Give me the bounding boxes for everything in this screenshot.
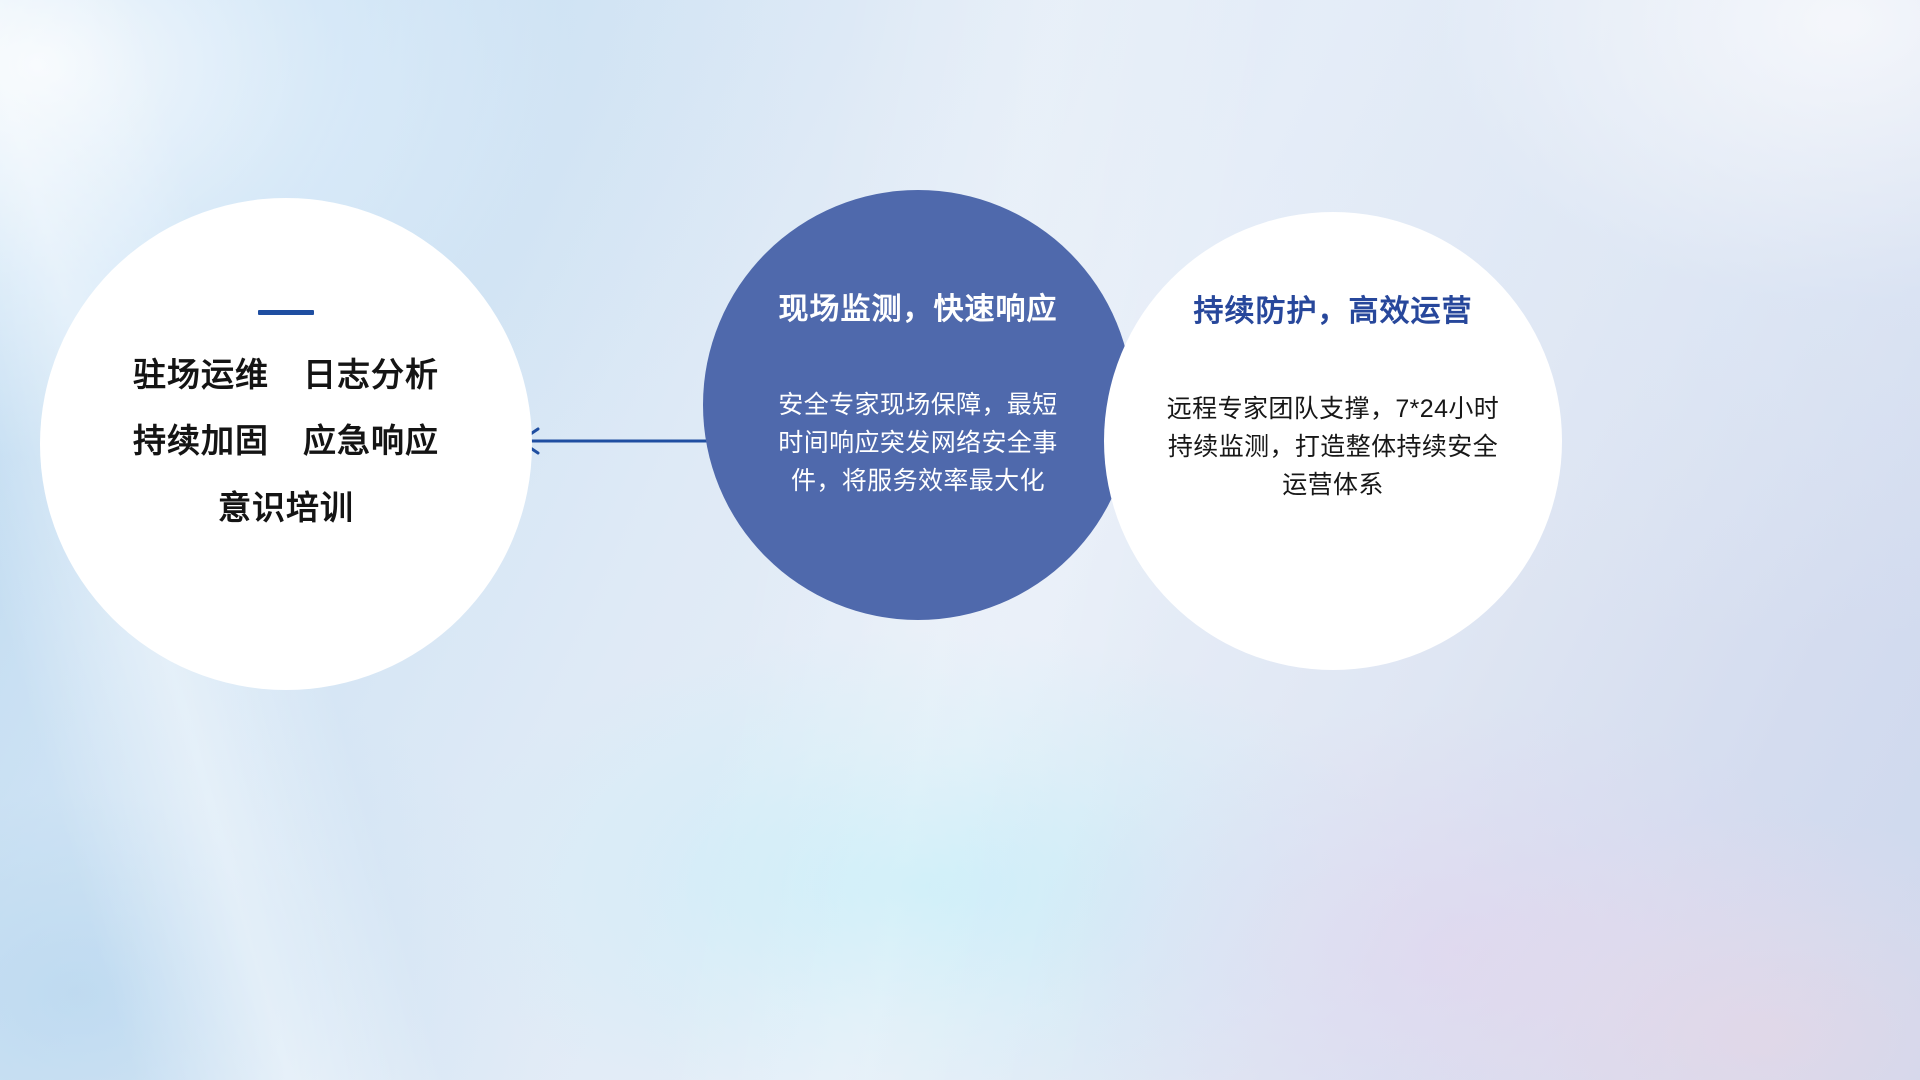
continuous-protection-circle[interactable]: 持续防护，高效运营 远程专家团队支撑，7*24小时持续监测，打造整体持续安全运营… — [1104, 212, 1562, 670]
continuous-protection-body: 远程专家团队支撑，7*24小时持续监测，打造整体持续安全运营体系 — [1160, 390, 1506, 504]
continuous-protection-title: 持续防护，高效运营 — [1194, 294, 1473, 330]
capabilities-list: 驻场运维 日志分析 持续加固 应急响应 意识培训 — [133, 357, 439, 526]
operations-capabilities-circle[interactable]: 驻场运维 日志分析 持续加固 应急响应 意识培训 — [40, 198, 532, 690]
onsite-monitoring-title: 现场监测，快速响应 — [779, 292, 1058, 328]
capability-line-1: 驻场运维 日志分析 — [133, 357, 439, 393]
onsite-monitoring-circle[interactable]: 现场监测，快速响应 安全专家现场保障，最短时间响应突发网络安全事件，将服务效率最… — [703, 190, 1133, 620]
capability-line-2: 持续加固 应急响应 — [133, 423, 439, 459]
divider-dash-icon — [258, 310, 314, 315]
onsite-monitoring-body: 安全专家现场保障，最短时间响应突发网络安全事件，将服务效率最大化 — [768, 386, 1068, 500]
slide-canvas: 驻场运维 日志分析 持续加固 应急响应 意识培训 现场监测，快速响应 安全专家现… — [0, 0, 1920, 1080]
capability-line-3: 意识培训 — [218, 490, 354, 526]
